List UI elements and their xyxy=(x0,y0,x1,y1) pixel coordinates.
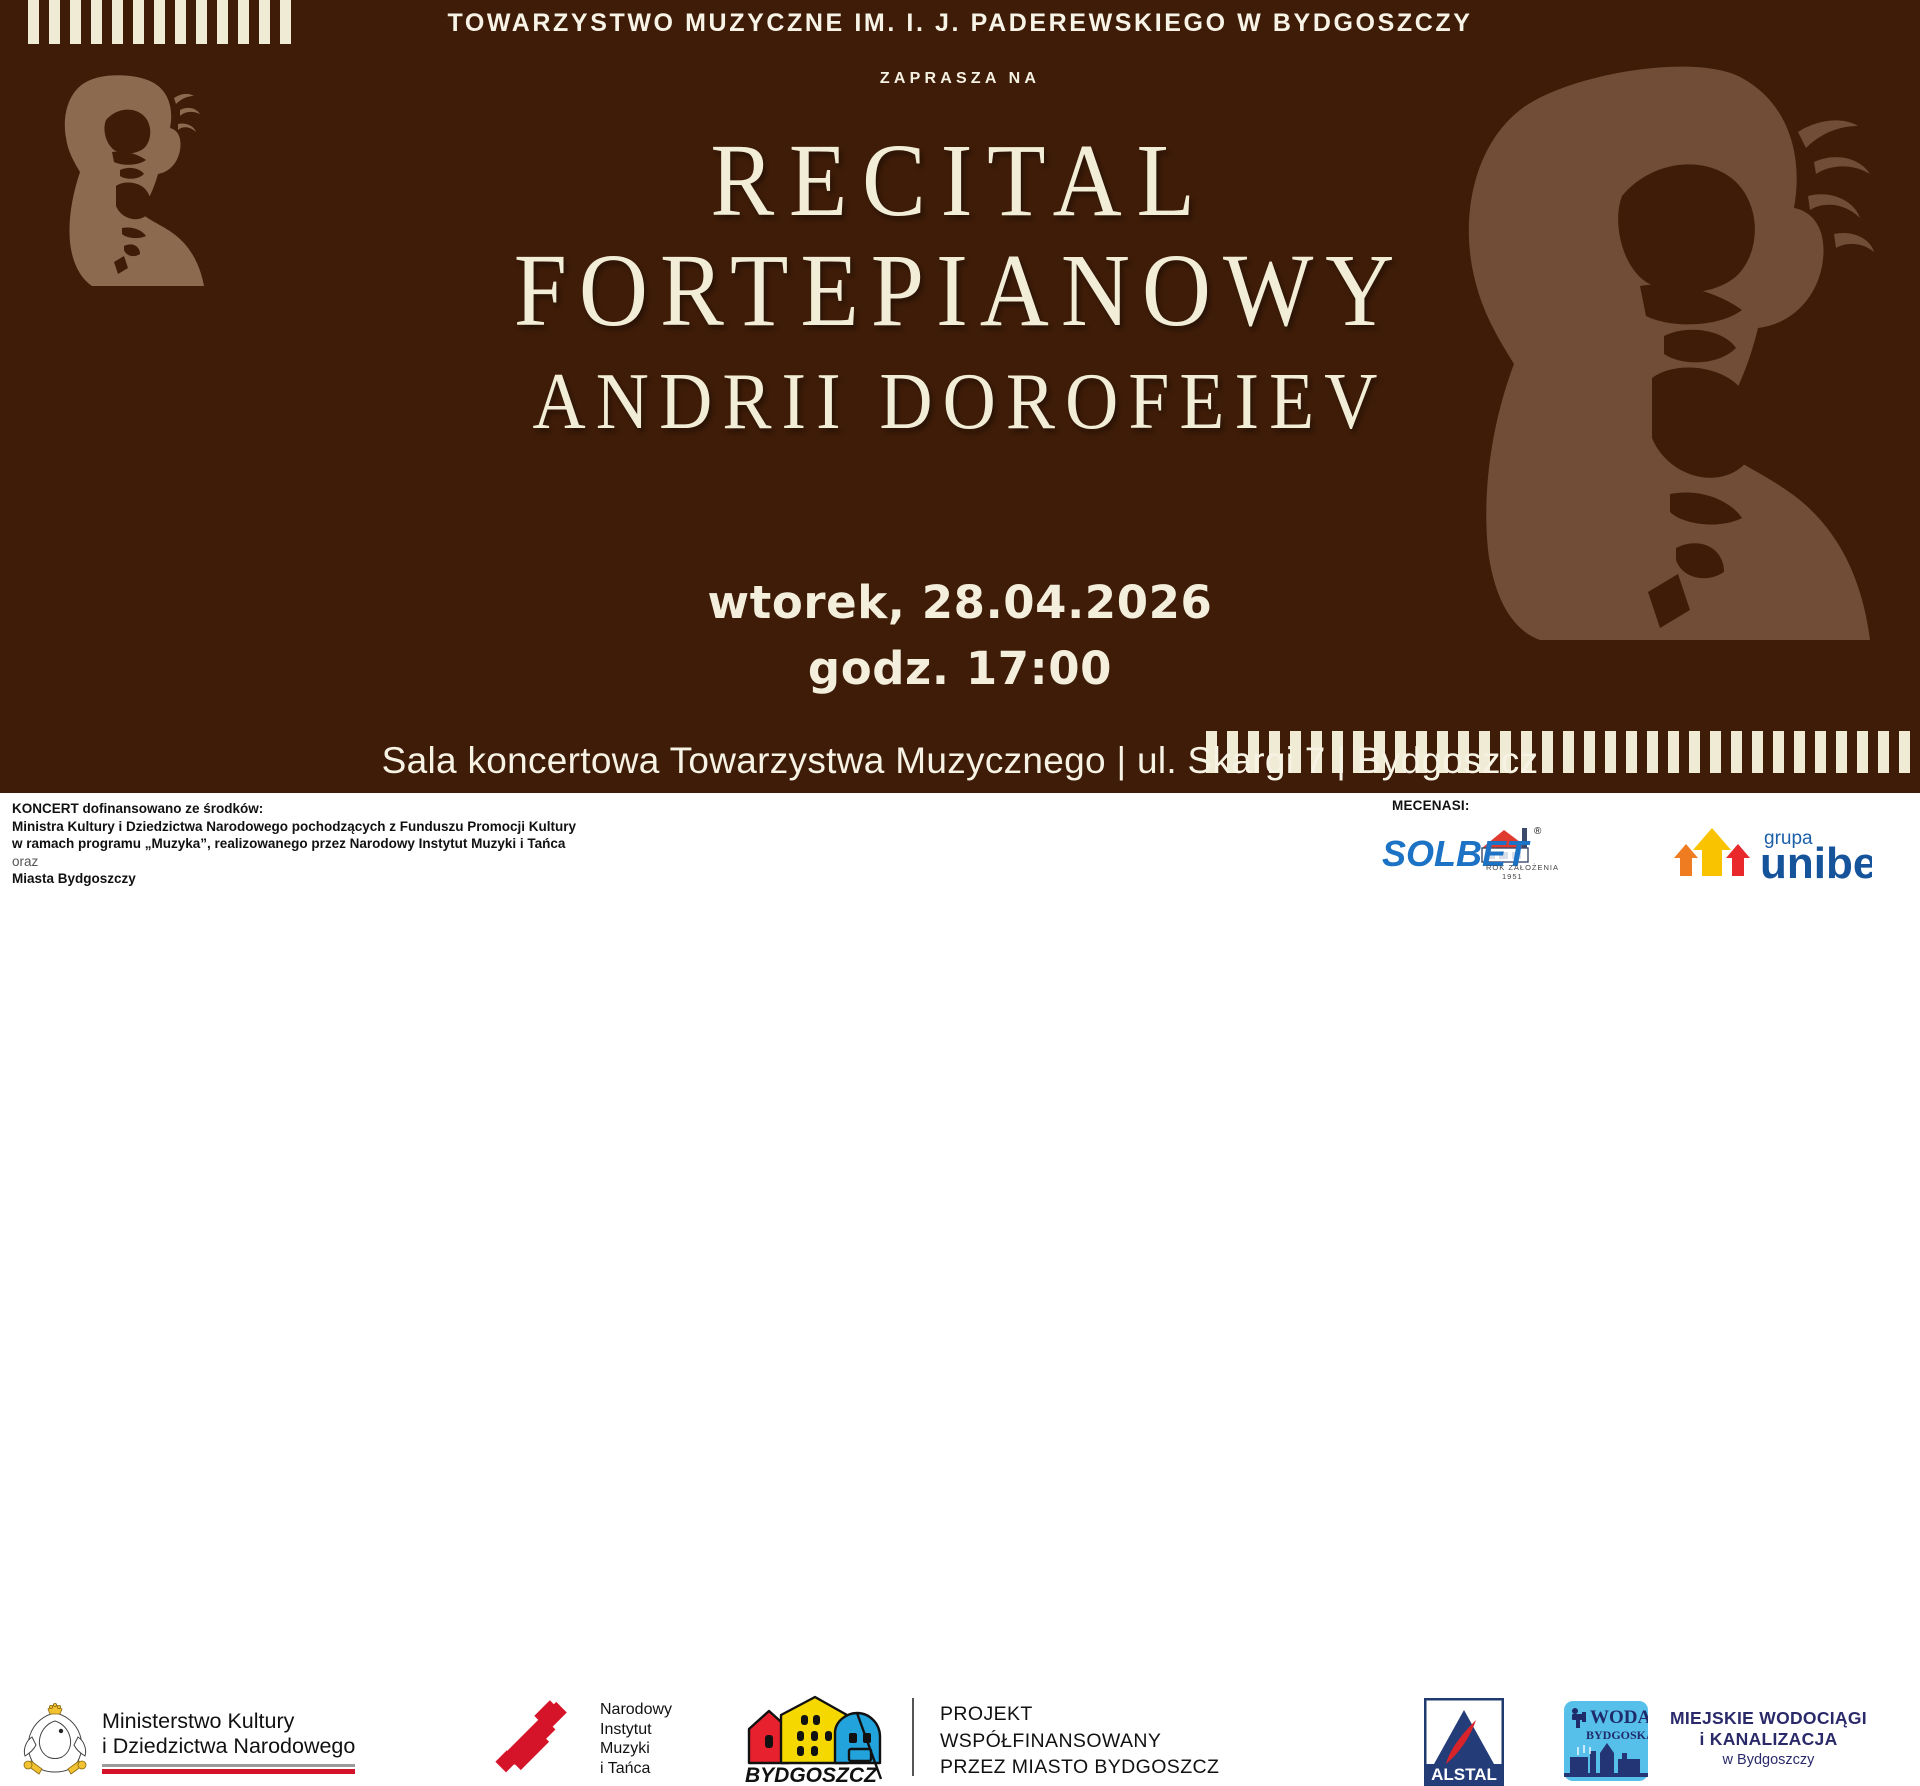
sponsor-footer: KONCERT dofinansowano ze środków: Minist… xyxy=(0,793,1920,1005)
concert-poster: TOWARZYSTWO MUZYCZNE IM. I. J. PADEREWSK… xyxy=(0,0,1920,1005)
woda-line-2: BYDGOSKA xyxy=(1586,1728,1648,1742)
solbet-logo: ® SOLBET ROK ZAŁOŻENIA 1951 xyxy=(1382,822,1562,880)
polish-eagle-icon xyxy=(18,1701,92,1781)
project-line-2: WSPÓŁFINANSOWANY xyxy=(940,1728,1219,1755)
event-time: godz. 17:00 xyxy=(0,636,1920,702)
nimit-line-1: Narodowy xyxy=(600,1700,672,1720)
svg-text:®: ® xyxy=(1534,826,1542,837)
ministry-rule-grey xyxy=(102,1764,355,1767)
title-block: RECITAL FORTEPIANOWY ANDRII DOROFEIEV xyxy=(0,128,1920,444)
nimit-line-2: Instytut xyxy=(600,1720,672,1740)
organizer-heading: TOWARZYSTWO MUZYCZNE IM. I. J. PADEREWSK… xyxy=(0,0,1920,40)
woda-line-1: WODA xyxy=(1590,1707,1648,1728)
solbet-tagline: ROK ZAŁOŻENIA xyxy=(1486,863,1559,872)
poster-stage: TOWARZYSTWO MUZYCZNE IM. I. J. PADEREWSK… xyxy=(0,0,1920,793)
bydgoszcz-houses-icon: BYDGOSZCZ xyxy=(735,1693,890,1785)
funding-line-3: w ramach programu „Muzyka”, realizowaneg… xyxy=(12,835,652,853)
title-line-2: FORTEPIANOWY xyxy=(77,238,1843,344)
alstal-wordmark: ALSTAL xyxy=(1431,1765,1497,1784)
bydgoszcz-wordmark: BYDGOSZCZ xyxy=(745,1764,878,1785)
invitation-text: ZAPRASZA NA xyxy=(0,70,1920,88)
project-line-3: PRZEZ MIASTO BYDGOSZCZ xyxy=(940,1754,1219,1781)
unibep-logo: grupa unibep xyxy=(1672,820,1872,882)
unibep-wordmark: unibep xyxy=(1760,839,1872,882)
event-venue: Sala koncertowa Towarzystwa Muzycznego |… xyxy=(0,740,1920,782)
title-line-1: RECITAL xyxy=(77,128,1843,234)
bydgoszcz-city-logo: BYDGOSZCZ xyxy=(735,1693,890,1785)
patrons-label: MECENASI: xyxy=(1392,798,1470,813)
performer-name: ANDRII DOROFEIEV xyxy=(77,362,1843,444)
funding-statement: KONCERT dofinansowano ze środków: Minist… xyxy=(12,800,652,888)
footer-divider xyxy=(912,1698,914,1776)
funding-line-1: KONCERT dofinansowano ze środków: xyxy=(12,800,652,818)
nimit-line-4: i Tańca xyxy=(600,1759,672,1779)
project-line-1: PROJEKT xyxy=(940,1701,1219,1728)
ministry-of-culture-logo: Ministerstwo Kultury i Dziedzictwa Narod… xyxy=(18,1698,358,1784)
mwik-line-2: i KANALIZACJA xyxy=(1670,1729,1867,1750)
funding-line-2: Ministra Kultury i Dziedzictwa Narodoweg… xyxy=(12,818,652,836)
event-date: wtorek, 28.04.2026 xyxy=(0,570,1920,636)
nimit-logo: Narodowy Instytut Muzyki i Tańca xyxy=(490,1698,672,1780)
funding-line-4: oraz xyxy=(12,853,652,871)
project-cofinancing-text: PROJEKT WSPÓŁFINANSOWANY PRZEZ MIASTO BY… xyxy=(940,1701,1219,1781)
ministry-name: Ministerstwo Kultury i Dziedzictwa Narod… xyxy=(102,1709,355,1759)
nimit-line-3: Muzyki xyxy=(600,1739,672,1759)
nimit-mark-icon xyxy=(490,1698,586,1780)
ministry-line-2: i Dziedzictwa Narodowego xyxy=(102,1734,355,1759)
event-datetime: wtorek, 28.04.2026 godz. 17:00 xyxy=(0,570,1920,702)
woda-bydgoska-logo: WODA BYDGOSKA xyxy=(1564,1701,1648,1781)
mwik-logo-text: MIEJSKIE WODOCIĄGI i KANALIZACJA w Bydgo… xyxy=(1670,1708,1867,1768)
funding-line-5: Miasta Bydgoszczy xyxy=(12,870,652,888)
mwik-line-1: MIEJSKIE WODOCIĄGI xyxy=(1670,1708,1867,1729)
mwik-line-3: w Bydgoszczy xyxy=(1670,1752,1867,1768)
ministry-line-1: Ministerstwo Kultury xyxy=(102,1709,355,1734)
solbet-year: 1951 xyxy=(1502,872,1523,880)
ministry-rule-red xyxy=(102,1769,355,1774)
nimit-name: Narodowy Instytut Muzyki i Tańca xyxy=(600,1700,672,1778)
alstal-logo: ALSTAL xyxy=(1424,1698,1504,1786)
unibep-arrows-icon xyxy=(1674,828,1750,876)
